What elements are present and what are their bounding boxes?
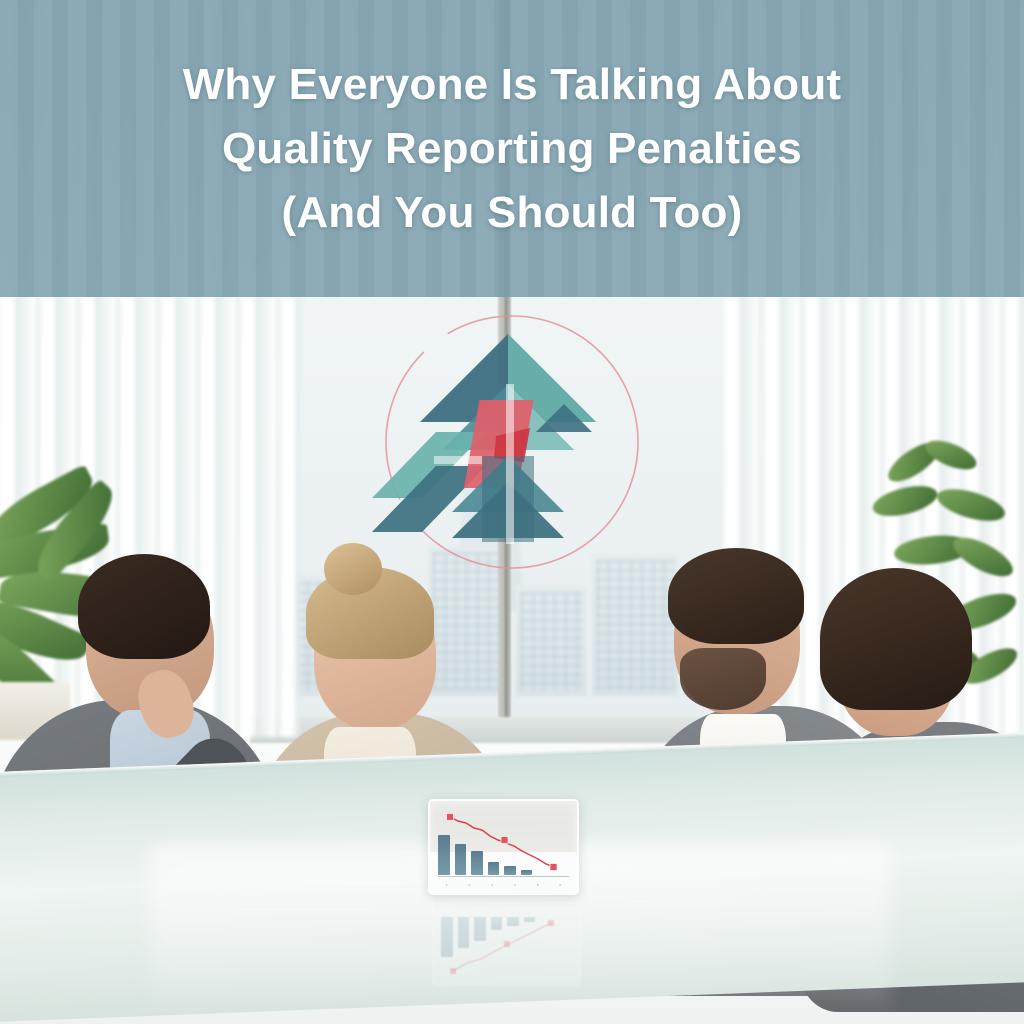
transparent-tablet-display[interactable]: 1 2 3 4 5 6 [428, 799, 579, 895]
title-line-3: (And You Should Too) [41, 181, 983, 245]
logo-highlight [506, 384, 514, 544]
title-banner: Why Everyone Is Talking About Quality Re… [0, 0, 1024, 297]
tick-label: 4 [506, 883, 524, 887]
page-title: Why Everyone Is Talking About Quality Re… [41, 53, 983, 245]
chart-trend-line [438, 809, 569, 881]
hero-graphic: 1 2 3 4 5 6 Why Everyone Is Talking Abou… [0, 0, 1024, 1024]
reflected-trend-line [441, 905, 572, 977]
chart-marker [501, 837, 508, 844]
chart-marker [550, 864, 557, 871]
beard [680, 648, 766, 710]
tick-label: 5 [529, 883, 547, 887]
title-line-1: Why Everyone Is Talking About [41, 53, 983, 117]
tick-label: 3 [483, 883, 501, 887]
tick-label: 1 [438, 883, 456, 887]
chart-marker [447, 814, 454, 821]
tick-label: 2 [461, 883, 479, 887]
tablet-chart: 1 2 3 4 5 6 [438, 809, 569, 881]
reflected-chart [441, 911, 572, 977]
logo-highlight [434, 456, 482, 464]
chart-tick-labels: 1 2 3 4 5 6 [438, 883, 569, 887]
tick-label: 6 [551, 883, 569, 887]
title-line-2: Quality Reporting Penalties [41, 117, 983, 181]
upward-arrow-geometric-logo [378, 306, 646, 578]
tablet-reflection [432, 898, 581, 986]
